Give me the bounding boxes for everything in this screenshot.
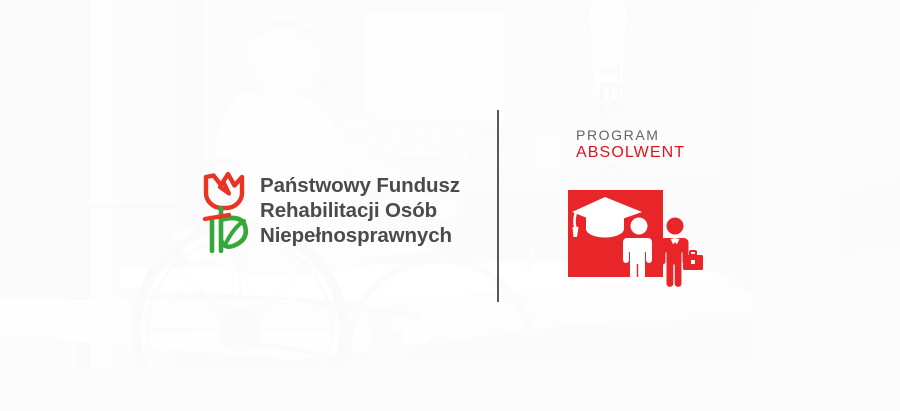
program-absolwent-emblem-illustration <box>560 182 710 290</box>
banner-content: Państwowy Fundusz Rehabilitacji Osób Nie… <box>0 0 900 411</box>
pfron-logotype-line-3: Niepełnosprawnych <box>260 223 460 248</box>
program-kicker: PROGRAM <box>576 127 685 144</box>
vertical-divider <box>497 110 499 302</box>
pfron-logo: Państwowy Fundusz Rehabilitacji Osób Nie… <box>196 157 454 255</box>
pfron-logotype-line-2: Rehabilitacji Osób <box>260 198 460 223</box>
pfron-logotype-line-1: Państwowy Fundusz <box>260 173 460 198</box>
pfron-tulip-mark-icon <box>196 157 252 253</box>
program-name: ABSOLWENT <box>576 144 685 161</box>
pfron-logotype: Państwowy Fundusz Rehabilitacji Osób Nie… <box>260 157 460 248</box>
program-label: PROGRAM ABSOLWENT <box>576 127 685 161</box>
businessman-figure-icon <box>660 218 689 287</box>
program-absolwent-emblem <box>560 182 710 290</box>
pfron-absolwent-banner: TESSCO <box>0 0 900 411</box>
